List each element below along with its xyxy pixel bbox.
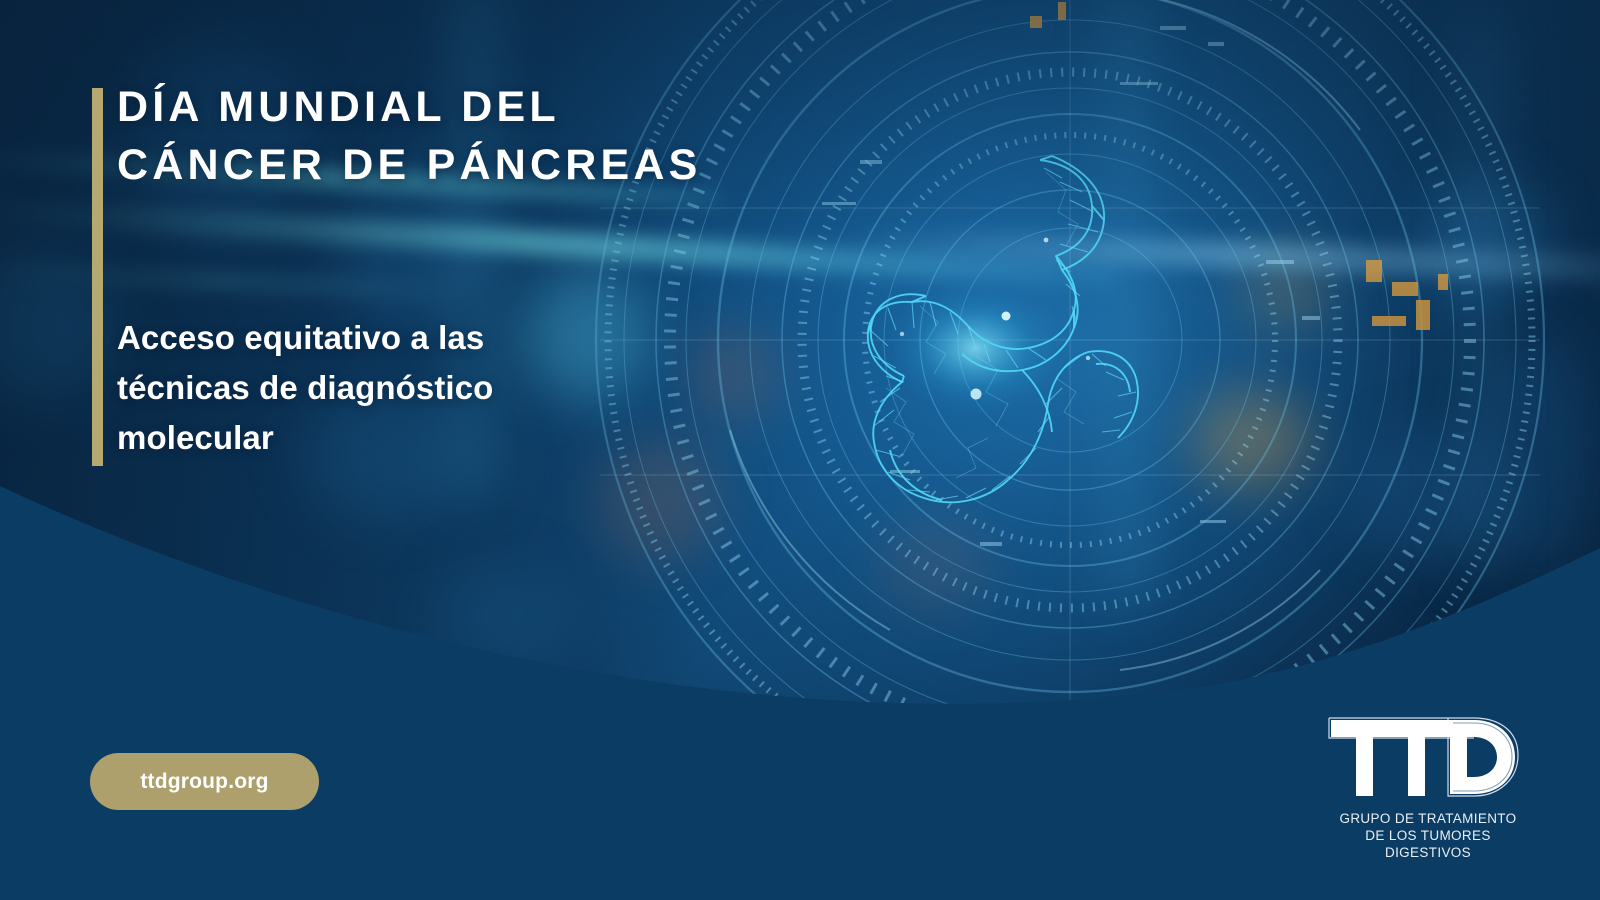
poster-canvas: DÍA MUNDIAL DEL CÁNCER DE PÁNCREAS Acces… [0,0,1600,900]
page-subtitle: Acceso equitativo a las técnicas de diag… [117,313,637,463]
logo-tagline: GRUPO DE TRATAMIENTO DE LOS TUMORES DIGE… [1322,810,1534,861]
ttd-logo: GRUPO DE TRATAMIENTO DE LOS TUMORES DIGE… [1322,712,1534,861]
page-title: DÍA MUNDIAL DEL CÁNCER DE PÁNCREAS [117,78,957,194]
gold-accent-bar [92,88,103,466]
website-url-button[interactable]: ttdgroup.org [90,753,319,810]
ttd-logo-mark [1322,712,1534,804]
